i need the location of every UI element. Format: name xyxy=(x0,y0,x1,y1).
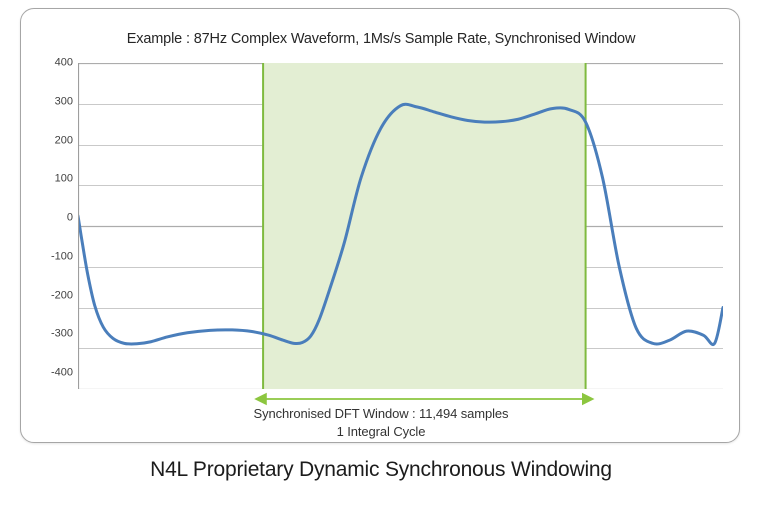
y-tick-200: 200 xyxy=(27,135,73,146)
y-tick-neg100: -100 xyxy=(27,251,73,262)
window-annotation-line2: 1 Integral Cycle xyxy=(21,423,741,441)
y-tick-300: 300 xyxy=(27,96,73,107)
y-tick-neg200: -200 xyxy=(27,290,73,301)
y-axis-labels: 400 300 200 100 0 -100 -200 -300 -400 xyxy=(21,63,73,389)
waveform-plot-svg xyxy=(78,63,723,389)
figure-caption: N4L Proprietary Dynamic Synchronous Wind… xyxy=(0,458,762,482)
chart-card: Example : 87Hz Complex Waveform, 1Ms/s S… xyxy=(20,8,740,443)
y-tick-100: 100 xyxy=(27,174,73,185)
window-annotation-line1: Synchronised DFT Window : 11,494 samples xyxy=(21,405,741,423)
y-tick-0: 0 xyxy=(27,213,73,224)
screenshot-root: Example : 87Hz Complex Waveform, 1Ms/s S… xyxy=(0,0,762,505)
plot-area xyxy=(78,63,723,389)
y-tick-neg400: -400 xyxy=(27,368,73,379)
y-tick-neg300: -300 xyxy=(27,329,73,340)
y-tick-400: 400 xyxy=(27,58,73,69)
chart-title: Example : 87Hz Complex Waveform, 1Ms/s S… xyxy=(21,31,741,47)
window-annotation: Synchronised DFT Window : 11,494 samples… xyxy=(21,405,741,440)
